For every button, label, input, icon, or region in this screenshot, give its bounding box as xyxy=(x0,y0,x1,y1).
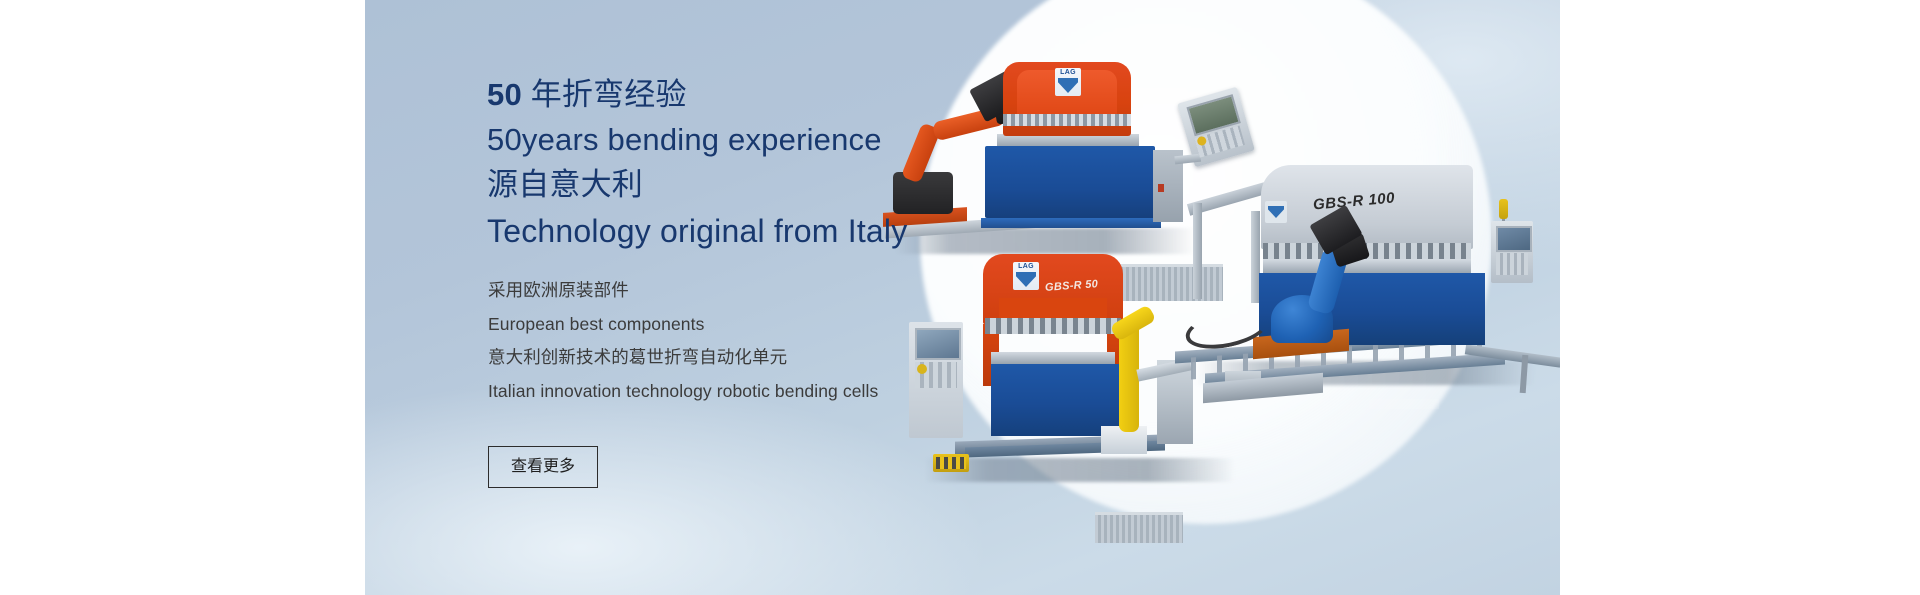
lag-logo-text: LAG xyxy=(1018,262,1034,271)
subtext-line-2: European best components xyxy=(488,308,878,342)
pendant-support-arm xyxy=(1174,154,1201,165)
hmi-keypad xyxy=(1496,253,1528,275)
headline-group: 50 年折弯经验 50years bending experience 源自意大… xyxy=(487,72,907,254)
gantry-post-left xyxy=(1193,203,1202,299)
headline-line-2: 50years bending experience xyxy=(487,117,907,162)
view-more-button[interactable]: 查看更多 xyxy=(488,446,598,488)
lag-logo: LAG xyxy=(1013,262,1039,290)
machine-photo-gbs-r-100-cell: GBS-R 100 xyxy=(1165,165,1560,395)
subtext-line-3: 意大利创新技术的葛世折弯自动化单元 xyxy=(488,341,878,375)
hmi-screen xyxy=(1496,226,1532,252)
hero-banner: LAG LAG GBS-R 50 xyxy=(365,0,1560,595)
hmi-panel xyxy=(1491,221,1533,283)
subtext-line-1: 采用欧洲原装部件 xyxy=(488,274,878,308)
lag-logo xyxy=(1265,201,1287,223)
press-bed xyxy=(1263,259,1471,273)
lag-logo-text: LAG xyxy=(1060,68,1076,77)
lag-logo: LAG xyxy=(1055,68,1081,96)
headline-line-1: 50 年折弯经验 xyxy=(487,72,907,117)
headline-line-1-rest: 年折弯经验 xyxy=(522,77,687,112)
subtext-group: 采用欧洲原装部件 European best components 意大利创新技… xyxy=(488,274,878,408)
headline-line-3: 源自意大利 xyxy=(487,162,907,208)
cabinet-highlight xyxy=(1369,399,1439,409)
signal-beacon xyxy=(1499,199,1508,219)
headline-years-number: 50 xyxy=(487,77,522,112)
headline-line-4: Technology original from Italy xyxy=(487,208,907,254)
banner-copy-block: 50 年折弯经验 50years bending experience 源自意大… xyxy=(487,0,1047,595)
subtext-line-4: Italian innovation technology robotic be… xyxy=(488,375,878,409)
ventilation-grille xyxy=(1095,512,1183,543)
